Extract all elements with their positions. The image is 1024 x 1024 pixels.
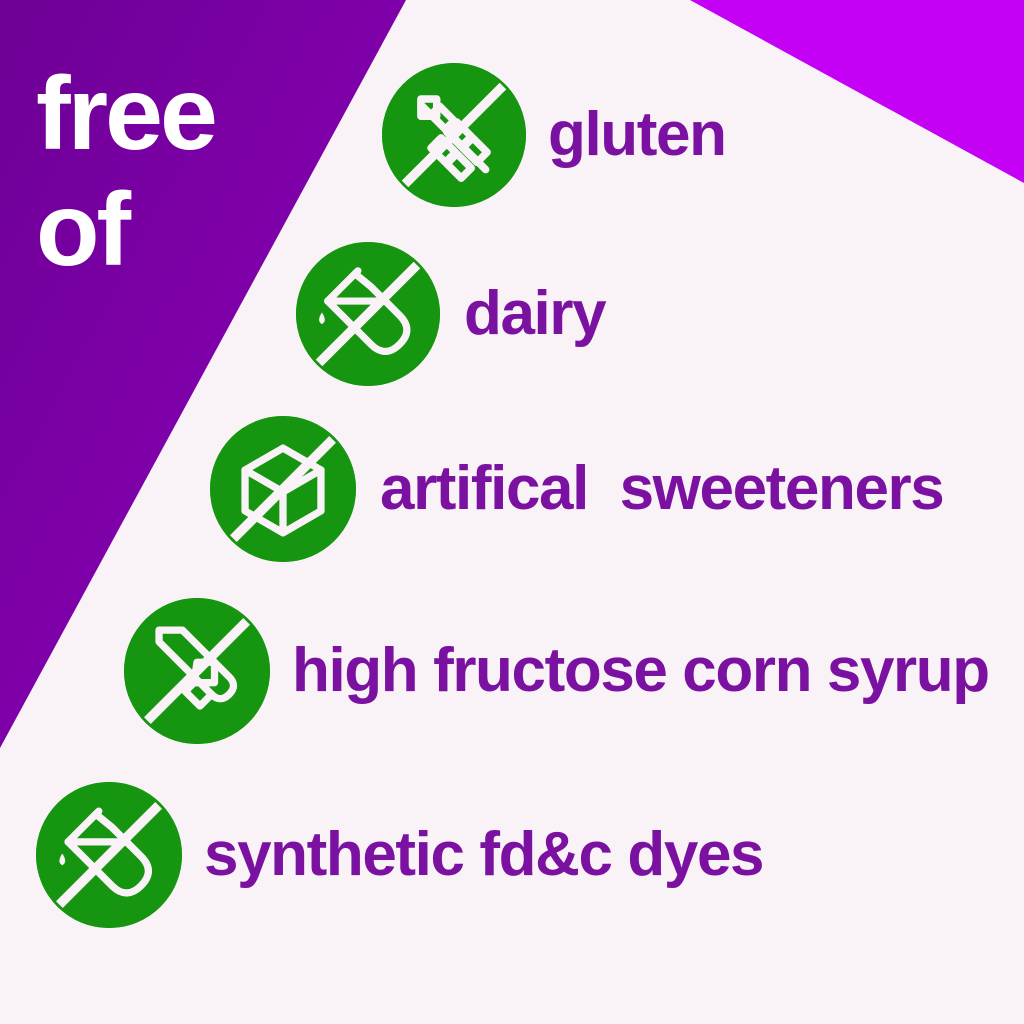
list-item-label: gluten (548, 104, 726, 166)
list-item: high fructose corn syrup (124, 598, 989, 744)
list-item-label: dairy (464, 283, 605, 345)
list-item: artifical sweeteners (210, 416, 943, 562)
page-title: free of (36, 56, 215, 289)
list-item-label: artifical sweeteners (380, 458, 943, 520)
no-wheat-icon (382, 63, 526, 207)
no-corn-icon (124, 598, 270, 744)
list-item-label: synthetic fd&c dyes (204, 824, 763, 886)
list-item: dairy (296, 242, 605, 386)
headline-line-two: of (36, 172, 215, 288)
list-item: gluten (382, 63, 726, 207)
headline-line-one: free (36, 56, 215, 172)
no-sugar-cube-icon (210, 416, 356, 562)
list-item-label: high fructose corn syrup (292, 640, 989, 702)
no-test-tube-icon (36, 782, 182, 928)
no-milk-jug-icon (296, 242, 440, 386)
list-item: synthetic fd&c dyes (36, 782, 763, 928)
free-of-poster: free of (0, 0, 1024, 1024)
